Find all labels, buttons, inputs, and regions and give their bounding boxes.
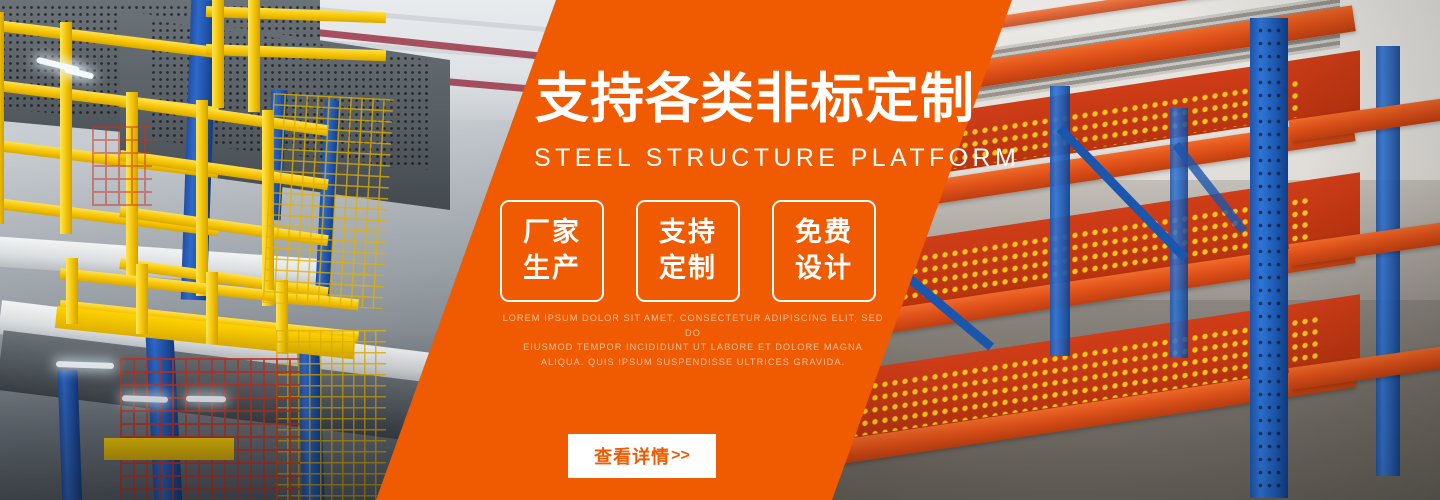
mesh-panel	[263, 93, 394, 309]
badge-line-1: 免费	[795, 215, 853, 251]
guardrail-post	[196, 100, 208, 296]
badge-line-2: 设计	[795, 251, 853, 287]
guardrail-post	[66, 258, 78, 324]
guardrail-post	[60, 22, 72, 234]
badge-line-2: 定制	[659, 251, 717, 287]
promo-banner: 支持各类非标定制 STEEL STRUCTURE PLATFORM 厂家 生产 …	[0, 0, 1440, 500]
feature-badge-free-design: 免费 设计	[772, 200, 876, 302]
guardrail-post	[136, 264, 148, 334]
badge-line-1: 支持	[659, 215, 717, 251]
double-chevron-right-icon: >>	[671, 447, 690, 465]
feature-badge-factory-production: 厂家 生产	[500, 200, 604, 302]
badge-line-1: 厂家	[523, 215, 581, 251]
guardrail-post	[0, 12, 4, 224]
badge-line-2: 生产	[523, 251, 581, 287]
description-line-1: LOREM IPSUM DOLOR SIT AMET, CONSECTETUR …	[500, 311, 886, 340]
guardrail-post	[248, 0, 260, 112]
description-line-3: ALIQUA. QUIS IPSUM SUSPENDISSE ULTRICES …	[500, 355, 886, 370]
guardrail-post	[212, 0, 224, 108]
subheadline: STEEL STRUCTURE PLATFORM	[534, 144, 966, 173]
feature-badge-custom-support: 支持 定制	[636, 200, 740, 302]
description-line-2: EIUSMOD TEMPOR INCIDIDUNT UT LABORE ET D…	[500, 340, 886, 355]
view-details-label: 查看详情	[594, 443, 670, 469]
cage-panel	[92, 126, 152, 206]
description-text: LOREM IPSUM DOLOR SIT AMET, CONSECTETUR …	[500, 311, 886, 369]
headline: 支持各类非标定制	[535, 72, 965, 126]
feature-badge-list: 厂家 生产 支持 定制 免费 设计	[500, 200, 876, 302]
view-details-button[interactable]: 查看详情 >>	[568, 434, 716, 478]
